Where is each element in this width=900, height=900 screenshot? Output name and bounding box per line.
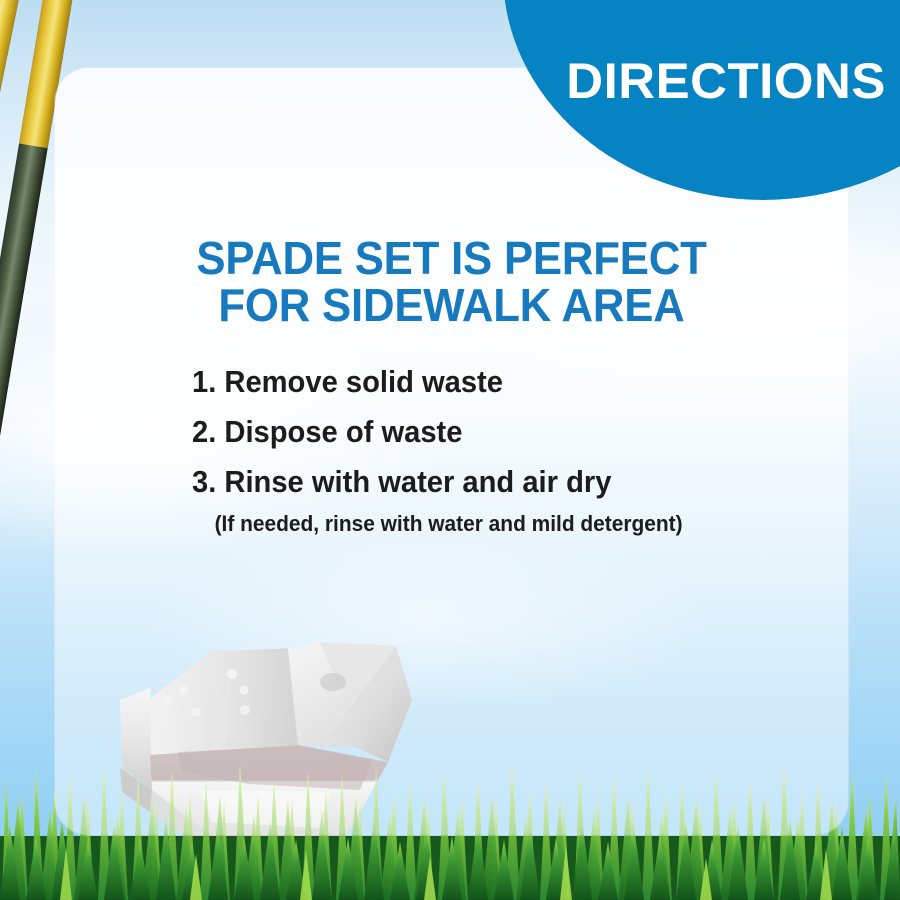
list-item: 1. Remove solid waste (192, 357, 809, 407)
list-item: 3. Rinse with water and air dry (192, 457, 809, 507)
directions-content: SPADE SET IS PERFECT FOR SIDEWALK AREA 1… (55, 68, 848, 537)
directions-graphic: DIRECTIONS SPADE SET IS PERFECT FOR SIDE… (0, 0, 900, 900)
steps-list: 1. Remove solid waste 2. Dispose of wast… (55, 329, 848, 507)
list-item: 2. Dispose of waste (192, 407, 809, 457)
page-title: SPADE SET IS PERFECT FOR SIDEWALK AREA (55, 68, 848, 329)
headline-line-1: SPADE SET IS PERFECT (75, 235, 828, 282)
headline-line-2: FOR SIDEWALK AREA (75, 282, 828, 329)
steps-note: (If needed, rinse with water and mild de… (55, 507, 808, 537)
